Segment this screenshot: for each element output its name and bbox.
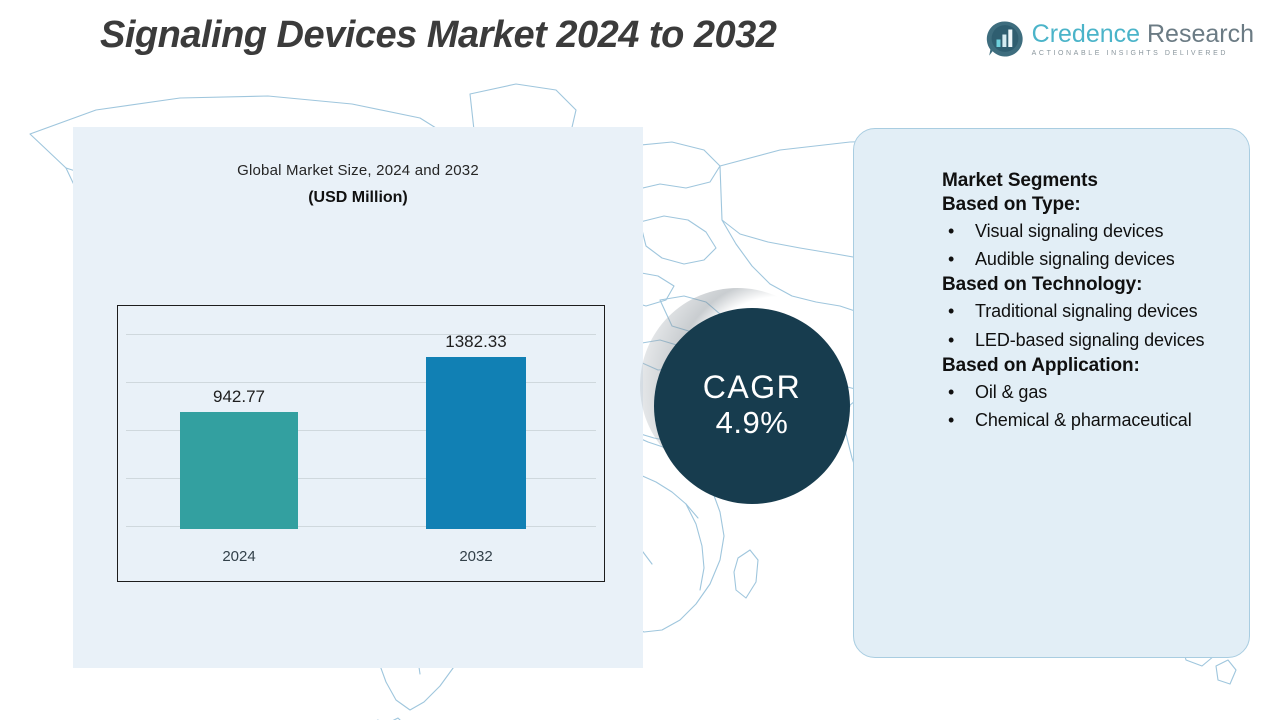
- bullet-icon: •: [948, 245, 954, 273]
- chart-title: Global Market Size, 2024 and 2032: [73, 162, 643, 179]
- segment-group-heading-application: Based on Application:: [942, 354, 1231, 378]
- bar-chart-plot-area: 942.77 1382.33 2024 2032: [117, 305, 605, 582]
- segment-group-heading-type: Based on Type:: [942, 193, 1231, 217]
- segment-group-heading-technology: Based on Technology:: [942, 273, 1231, 297]
- bullet-icon: •: [948, 326, 954, 354]
- page-title: Signaling Devices Market 2024 to 2032: [100, 14, 776, 57]
- list-item-label: LED-based signaling devices: [975, 330, 1204, 350]
- bar-value-2032: 1382.33: [416, 332, 536, 352]
- cagr-value: 4.9%: [716, 405, 789, 441]
- bar-2024: [180, 412, 298, 529]
- list-item: • Traditional signaling devices: [942, 297, 1231, 325]
- list-item: • Audible signaling devices: [942, 245, 1231, 273]
- logo-brand-secondary: Research: [1147, 20, 1254, 48]
- chart-subtitle: (USD Million): [73, 189, 643, 207]
- x-axis-label-2024: 2024: [180, 548, 298, 565]
- list-item: • Oil & gas: [942, 378, 1231, 406]
- logo-tagline: Actionable Insights Delivered: [1032, 50, 1254, 57]
- market-segments-panel: Market Segments Based on Type: • Visual …: [853, 128, 1250, 658]
- list-item-label: Chemical & pharmaceutical: [975, 410, 1192, 430]
- list-item: • Chemical & pharmaceutical: [942, 406, 1231, 434]
- bar-value-2024: 942.77: [180, 387, 298, 407]
- list-item-label: Visual signaling devices: [975, 221, 1163, 241]
- brand-logo: Credence Research Actionable Insights De…: [986, 20, 1254, 58]
- cagr-label: CAGR: [703, 371, 801, 405]
- segments-heading: Market Segments: [942, 169, 1231, 193]
- list-item-label: Oil & gas: [975, 382, 1047, 402]
- cagr-badge: CAGR 4.9%: [654, 308, 850, 504]
- logo-brand-primary: Credence: [1032, 20, 1140, 48]
- list-item: • LED-based signaling devices: [942, 326, 1231, 354]
- bullet-icon: •: [948, 378, 954, 406]
- list-item: • Visual signaling devices: [942, 217, 1231, 245]
- list-item-label: Audible signaling devices: [975, 249, 1175, 269]
- bullet-icon: •: [948, 406, 954, 434]
- bar-2032: [426, 357, 526, 529]
- list-item-label: Traditional signaling devices: [975, 301, 1198, 321]
- chart-panel: Global Market Size, 2024 and 2032 (USD M…: [73, 127, 643, 668]
- bullet-icon: •: [948, 217, 954, 245]
- bullet-icon: •: [948, 297, 954, 325]
- circle-bar-chart-icon: [986, 20, 1024, 58]
- x-axis-label-2032: 2032: [416, 548, 536, 565]
- logo-wordmark: Credence Research Actionable Insights De…: [1032, 22, 1254, 57]
- infographic-page: Signaling Devices Market 2024 to 2032 Cr…: [0, 0, 1280, 720]
